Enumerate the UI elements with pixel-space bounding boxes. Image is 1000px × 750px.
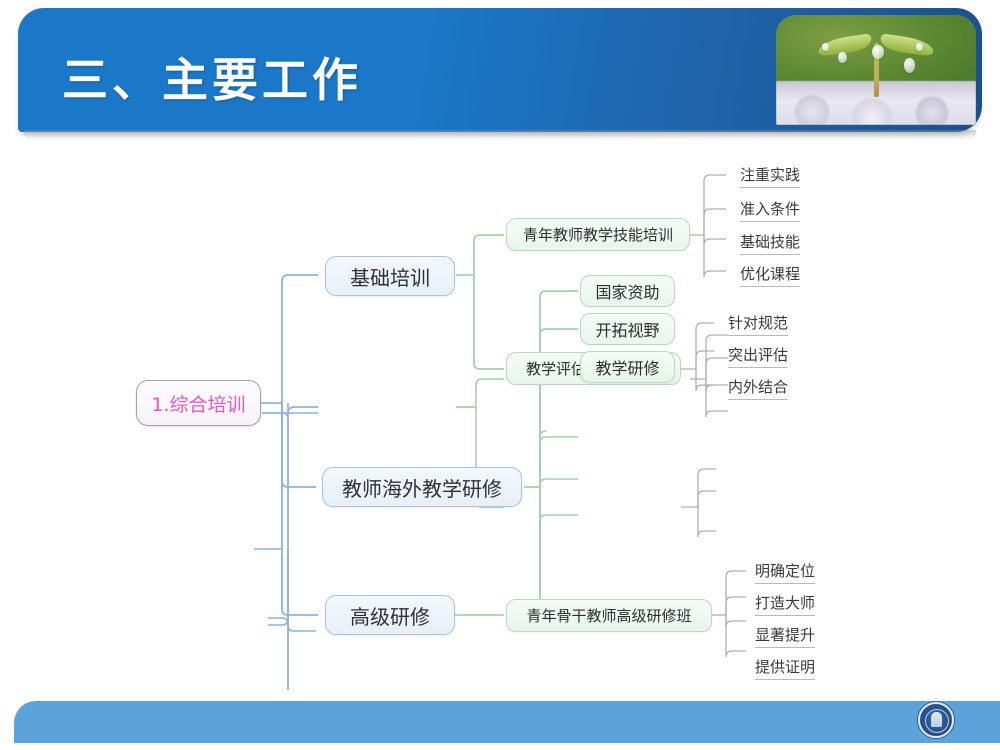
mindmap-leaf-provide-certification[interactable]: 提供证明 (755, 656, 815, 680)
photo-dew-drop (916, 43, 923, 51)
mindmap-child-national-funding[interactable]: 国家资助 (580, 275, 675, 307)
mindmap-leaf-clear-positioning[interactable]: 明确定位 (755, 560, 815, 584)
university-logo-icon (918, 702, 954, 738)
slide: 三、主要工作 (0, 0, 1000, 750)
mindmap-child-young-teacher-skill-training[interactable]: 青年教师教学技能培训 (506, 218, 690, 251)
slide-header: 三、主要工作 (18, 8, 982, 138)
photo-dew-drop (904, 58, 915, 73)
mindmap-leaf-highlight-evaluation[interactable]: 突出评估 (728, 344, 788, 368)
slide-footer (14, 701, 1000, 743)
mindmap-branch-basic-training[interactable]: 基础培训 (325, 256, 455, 296)
mindmap-leaf-targeted-standards[interactable]: 针对规范 (728, 312, 788, 336)
mindmap-leaf-entry-conditions[interactable]: 准入条件 (740, 198, 800, 222)
mindmap-child-broaden-horizons[interactable]: 开拓视野 (580, 313, 675, 345)
mindmap-leaf-significant-improvement[interactable]: 显著提升 (755, 624, 815, 648)
mindmap-branch-advanced-training[interactable]: 高级研修 (325, 595, 455, 635)
mindmap-child-teaching-study[interactable]: 教学研修 (580, 351, 675, 383)
mindmap-child-young-backbone-advanced-class[interactable]: 青年骨干教师高级研修班 (506, 599, 712, 632)
photo-dew-drop (838, 52, 847, 63)
mindmap-leaf-practice-focus[interactable]: 注重实践 (740, 164, 800, 188)
header-shadow (24, 130, 976, 140)
mindmap-leaf-basic-skills[interactable]: 基础技能 (740, 231, 800, 255)
photo-dew-drop (822, 43, 829, 51)
page-title: 三、主要工作 (62, 44, 362, 110)
mindmap-leaf-optimize-curriculum[interactable]: 优化课程 (740, 263, 800, 287)
mindmap-canvas: 1.综合培训 基础培训 教师海外教学研修 高级研修 青年教师教学技能培训 教学评… (0, 145, 1000, 690)
mindmap-root-node[interactable]: 1.综合培训 (136, 380, 261, 426)
mindmap-leaf-internal-external-combination[interactable]: 内外结合 (728, 376, 788, 400)
mindmap-branch-overseas-training[interactable]: 教师海外教学研修 (322, 467, 522, 507)
seedling-photo (776, 15, 976, 125)
mindmap-leaf-cultivate-masters[interactable]: 打造大师 (755, 592, 815, 616)
photo-dew-drop (872, 45, 884, 59)
